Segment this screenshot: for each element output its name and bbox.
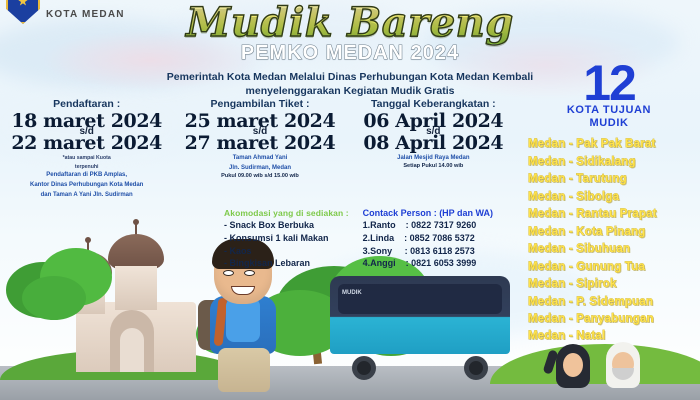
accommodation-block: Akomodasi yang di sediakan : - Snack Box… [224, 208, 349, 270]
column-heading: Pengambilan Tiket : [177, 98, 342, 110]
contact-row[interactable]: 3.Sony : 0813 6118 2573 [363, 245, 493, 258]
bus-illustration: MUDIK [330, 276, 510, 372]
list-item: - Snack Box Berbuka [224, 219, 349, 232]
list-item: Medan - Kota Pinang [528, 224, 700, 241]
contact-row[interactable]: 2.Linda : 0852 7086 5372 [363, 232, 493, 245]
info-row: Akomodasi yang di sediakan : - Snack Box… [224, 208, 493, 270]
column-time: Pukul 09.00 wib s/d 15.00 wib [177, 173, 342, 180]
column-heading: Pendaftaran : [4, 98, 169, 110]
destination-label-line-1: KOTA TUJUAN [518, 104, 700, 117]
list-item: - Kaos [224, 245, 349, 258]
column-note-2: terpenuhi [4, 164, 169, 171]
accommodation-title: Akomodasi yang di sediakan : [224, 208, 349, 218]
date-to: 27 maret 2024 [177, 134, 342, 153]
poster-canvas: ★ KOTA MEDAN Mudik Bareng PEMKO MEDAN 20… [0, 0, 700, 400]
contact-row[interactable]: 4.Anggi : 0821 6053 3999 [363, 257, 493, 270]
destination-list: Medan - Pak Pak Barat Medan - Sidikalang… [518, 136, 700, 346]
column-place-2: Jln. Sudirman, Medan [177, 165, 342, 173]
list-item: - Konsumsi 1 kali Makan [224, 232, 349, 245]
schedule-columns: Pendaftaran : 18 maret 2024 s/d 22 maret… [0, 98, 520, 199]
palace-tower-center [108, 234, 164, 310]
couple-illustration [536, 342, 656, 398]
list-item: Medan - P. Sidempuan [528, 294, 700, 311]
column-place-1: Taman Ahmad Yani [177, 155, 342, 163]
column-note-1: *atau sampai Kuota [4, 155, 169, 162]
list-item: Medan - Pak Pak Barat [528, 136, 700, 153]
column-place-1: Jalan Mesjid Raya Medan [351, 155, 516, 163]
column-place-2: Kantor Dinas Perhubungan Kota Medan [4, 182, 169, 190]
list-item: Medan - Tarutung [528, 171, 700, 188]
woman-figure [552, 344, 594, 398]
column-time: Setiap Pukul 14.00 wib [351, 163, 516, 170]
city-logo: ★ KOTA MEDAN [6, 0, 125, 24]
list-item: Medan - Panyabungan [528, 311, 700, 328]
contact-row[interactable]: 1.Ranto : 0822 7317 9260 [363, 219, 493, 232]
column-heading: Tanggal Keberangkatan : [351, 98, 516, 110]
date-to: 08 April 2024 [351, 134, 516, 153]
destination-count: 12 [518, 62, 700, 104]
destination-label-line-2: MUDIK [518, 117, 700, 130]
list-item: Medan - Natal [528, 328, 700, 345]
tree-illustration [6, 248, 116, 322]
list-item: Medan - Sidikalang [528, 154, 700, 171]
logo-org-label: KOTA MEDAN [46, 9, 125, 24]
list-item: Medan - Rantau Prapat [528, 206, 700, 223]
list-item: Medan - Sibolga [528, 189, 700, 206]
contact-title: Contack Person : (HP dan WA) [363, 208, 493, 218]
column-place-3: dan Taman A Yani Jln. Sudirman [4, 192, 169, 200]
list-item: Medan - Gunung Tua [528, 259, 700, 276]
man-figure [600, 342, 646, 398]
destinations-panel: 12 KOTA TUJUAN MUDIK Medan - Pak Pak Bar… [518, 62, 700, 346]
medan-crest-icon: ★ [6, 0, 40, 24]
schedule-column-ticket-pickup: Pengambilan Tiket : 25 maret 2024 s/d 27… [173, 98, 346, 199]
list-item: Medan - Sibuhuan [528, 241, 700, 258]
contact-block: Contack Person : (HP dan WA) 1.Ranto : 0… [363, 208, 493, 270]
list-item: - Bingkisan Lebaran [224, 257, 349, 270]
schedule-column-registration: Pendaftaran : 18 maret 2024 s/d 22 maret… [0, 98, 173, 199]
schedule-column-departure: Tanggal Keberangkatan : 06 April 2024 s/… [347, 98, 520, 199]
column-place-1: Pendaftaran di PKB Amplas, [4, 172, 169, 180]
date-to: 22 maret 2024 [4, 134, 169, 153]
list-item: Medan - Sipirok [528, 276, 700, 293]
